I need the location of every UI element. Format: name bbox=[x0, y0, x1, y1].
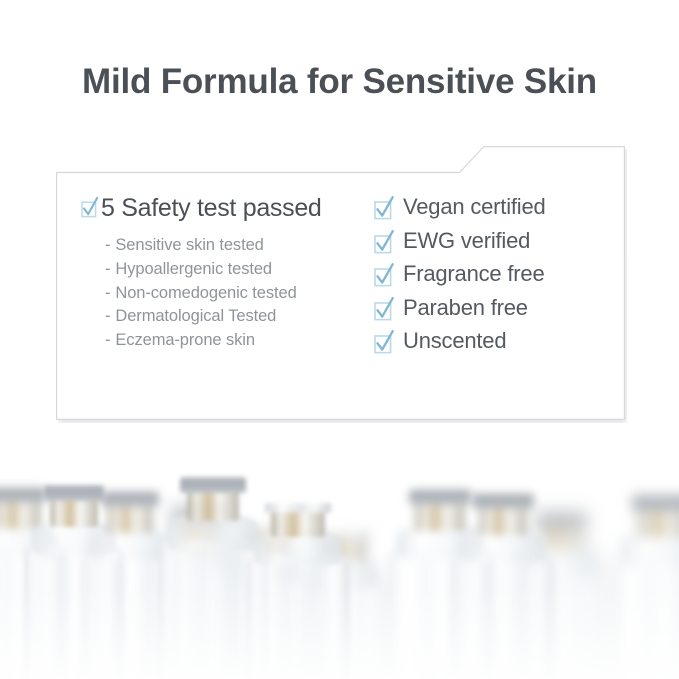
claim-row: Fragrance free bbox=[374, 263, 625, 287]
claim-row: EWG verified bbox=[374, 230, 625, 254]
list-dash: - bbox=[105, 260, 110, 278]
list-dash: - bbox=[105, 236, 110, 254]
safety-column: 5 Safety test passed -Sensitive skin tes… bbox=[56, 196, 366, 420]
claim-label: Vegan certified bbox=[403, 196, 546, 218]
product-infographic: Mild Formula for Sensitive Skin 5 Safety… bbox=[0, 0, 679, 679]
checkbox-checked-icon bbox=[374, 196, 394, 220]
list-item: -Non-comedogenic tested bbox=[105, 282, 366, 306]
list-dash: - bbox=[105, 331, 110, 349]
list-item: -Hypoallergenic tested bbox=[105, 258, 366, 282]
claim-row: Unscented bbox=[374, 330, 625, 354]
list-dash: - bbox=[105, 284, 110, 302]
list-item: -Sensitive skin tested bbox=[105, 234, 366, 258]
checkbox-checked-icon bbox=[374, 230, 394, 254]
card-content: 5 Safety test passed -Sensitive skin tes… bbox=[56, 144, 625, 420]
list-item: -Dermatological Tested bbox=[105, 305, 366, 329]
claim-label: EWG verified bbox=[403, 230, 530, 252]
claim-label: Fragrance free bbox=[403, 263, 545, 285]
bottle bbox=[612, 495, 679, 679]
product-photo bbox=[0, 435, 679, 679]
claim-row: Paraben free bbox=[374, 297, 625, 321]
list-item-label: Non-comedogenic tested bbox=[115, 284, 296, 302]
list-item-label: Dermatological Tested bbox=[115, 307, 276, 325]
safety-heading-label: 5 Safety test passed bbox=[101, 196, 322, 221]
claim-label: Unscented bbox=[403, 330, 506, 352]
list-item: -Eczema-prone skin bbox=[105, 329, 366, 353]
safety-sublist: -Sensitive skin tested -Hypoallergenic t… bbox=[81, 234, 366, 353]
checkbox-checked-icon bbox=[81, 197, 98, 218]
bottle bbox=[246, 499, 350, 679]
list-dash: - bbox=[105, 307, 110, 325]
checkbox-checked-icon bbox=[374, 330, 394, 354]
page-title: Mild Formula for Sensitive Skin bbox=[0, 62, 679, 102]
checkbox-checked-icon bbox=[374, 297, 394, 321]
benefits-card: 5 Safety test passed -Sensitive skin tes… bbox=[56, 144, 625, 420]
bottle bbox=[452, 493, 554, 679]
checkbox-checked-icon bbox=[374, 263, 394, 287]
safety-heading-row: 5 Safety test passed bbox=[81, 196, 366, 221]
list-item-label: Hypoallergenic tested bbox=[115, 260, 272, 278]
list-item-label: Sensitive skin tested bbox=[115, 236, 263, 254]
claim-label: Paraben free bbox=[403, 297, 528, 319]
claims-column: Vegan certified EWG verified bbox=[366, 196, 625, 420]
list-item-label: Eczema-prone skin bbox=[115, 331, 255, 349]
claim-row: Vegan certified bbox=[374, 196, 625, 220]
